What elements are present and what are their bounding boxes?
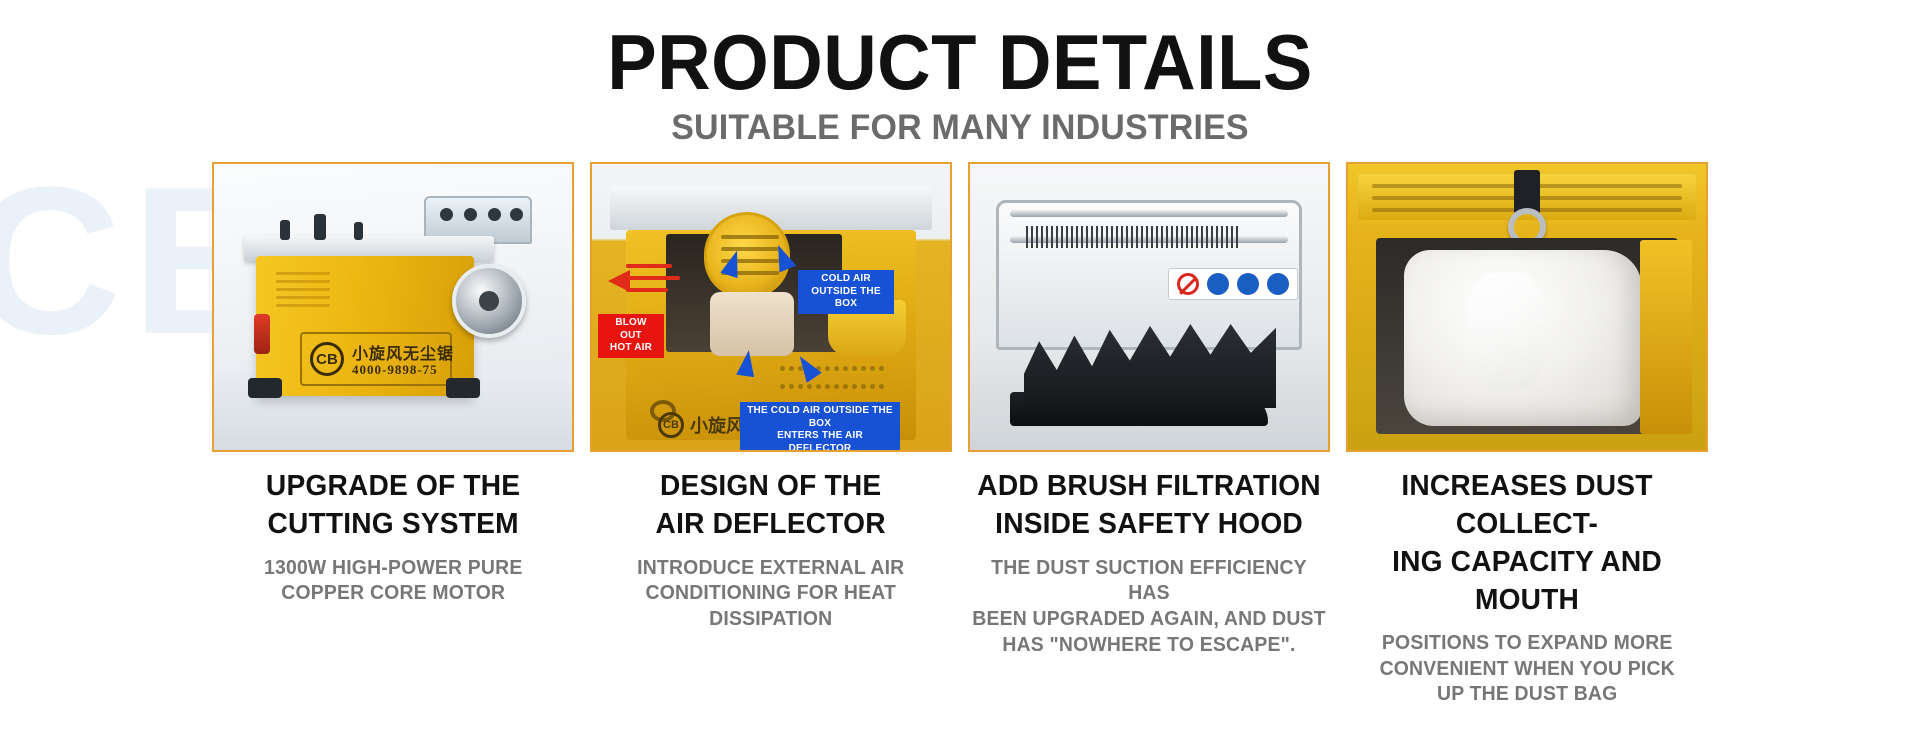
- panel-sub-line-1: 1300W HIGH-POWER PURE: [264, 556, 522, 582]
- panel-title-line-2: CUTTING SYSTEM: [266, 506, 520, 544]
- photo-dust-bag: [1348, 164, 1706, 450]
- panel-sub-line-1: THE DUST SUCTION EFFICIENCY HAS: [971, 556, 1328, 607]
- panel-title-line-2: ING CAPACITY AND MOUTH: [1349, 544, 1706, 619]
- panel-sub-line-2: COPPER CORE MOTOR: [264, 581, 522, 607]
- panel-title-line-2: AIR DEFLECTOR: [656, 506, 886, 544]
- panel-subtitle-cutting-system: 1300W HIGH-POWER PURE COPPER CORE MOTOR: [264, 556, 522, 607]
- cb-logo-icon: CB: [658, 412, 684, 438]
- panel-sub-line-2: CONVENIENT WHEN YOU PICK: [1379, 657, 1674, 683]
- eye-protection-icon: [1207, 273, 1229, 295]
- panel-sub-line-2: CONDITIONING FOR HEAT: [637, 581, 904, 607]
- photo-saw-machine: CB 小旋风无尘锯 4000-9898-75: [214, 164, 572, 450]
- feature-panel-cutting-system: CB 小旋风无尘锯 4000-9898-75 UPGRADE OF THE CU…: [209, 162, 577, 708]
- white-dust-bag: [1404, 250, 1642, 426]
- guard-rail-top: [1010, 210, 1288, 217]
- cold-air-arrow-icon-3: [736, 349, 757, 377]
- cutting-wheel: [452, 264, 526, 338]
- panel-sub-line-3: DISSIPATION: [637, 607, 904, 633]
- ear-protection-icon: [1237, 273, 1259, 295]
- control-knob-2: [314, 214, 326, 240]
- panel-sub-line-3: HAS "NOWHERE TO ESCAPE".: [971, 633, 1328, 659]
- brand-phone-number: 4000-9898-75: [352, 362, 438, 378]
- banner-header: PRODUCT DETAILS SUITABLE FOR MANY INDUST…: [0, 0, 1920, 148]
- panel-subtitle-brush-filtration: THE DUST SUCTION EFFICIENCY HAS BEEN UPG…: [971, 556, 1328, 658]
- product-details-banner: CB PRODUCT DETAILS SUITABLE FOR MANY IND…: [0, 0, 1920, 750]
- panel-title-line-2: INSIDE SAFETY HOOD: [977, 506, 1321, 544]
- feature-panels-row: CB 小旋风无尘锯 4000-9898-75 UPGRADE OF THE CU…: [0, 148, 1920, 708]
- panel-sub-line-1: POSITIONS TO EXPAND MORE: [1379, 631, 1674, 657]
- panel-subtitle-air-deflector: INTRODUCE EXTERNAL AIR CONDITIONING FOR …: [637, 556, 904, 633]
- panel-title-dust-capacity: INCREASES DUST COLLECT- ING CAPACITY AND…: [1349, 468, 1706, 619]
- brush-filtration-strip: [1026, 226, 1238, 248]
- photo-frame-brush-filtration: [968, 162, 1330, 452]
- photo-frame-air-deflector: CB 小旋风无尘锯 BLOW OUT HOT AIR COLD AIR OUTS…: [590, 162, 952, 452]
- photo-air-deflector: CB 小旋风无尘锯 BLOW OUT HOT AIR COLD AIR OUTS…: [592, 164, 950, 450]
- motor-body: [710, 292, 794, 356]
- panel-title-line-1: DESIGN OF THE: [656, 468, 886, 506]
- panel-subtitle-dust-capacity: POSITIONS TO EXPAND MORE CONVENIENT WHEN…: [1379, 631, 1674, 708]
- read-manual-icon: [1267, 273, 1289, 295]
- body-vents: [276, 272, 330, 306]
- panel-sub-line-2: BEEN UPGRADED AGAIN, AND DUST: [971, 607, 1328, 633]
- safety-warning-sticker: [1168, 268, 1298, 300]
- red-lever: [254, 314, 270, 354]
- control-knob-3: [354, 222, 363, 240]
- blow-out-hot-air-label: BLOW OUT HOT AIR: [598, 314, 664, 358]
- machine-foot-right: [446, 378, 480, 398]
- photo-frame-dust-capacity: [1346, 162, 1708, 452]
- hot-air-streak-3: [626, 288, 668, 292]
- panel-sub-line-3: UP THE DUST BAG: [1379, 682, 1674, 708]
- panel-title-line-1: INCREASES DUST COLLECT-: [1349, 468, 1706, 543]
- cold-air-outside-box-label: COLD AIR OUTSIDE THE BOX: [798, 270, 894, 314]
- feature-panel-air-deflector: CB 小旋风无尘锯 BLOW OUT HOT AIR COLD AIR OUTS…: [587, 162, 955, 708]
- feature-panel-dust-capacity: INCREASES DUST COLLECT- ING CAPACITY AND…: [1343, 162, 1711, 708]
- feature-panel-brush-filtration: ADD BRUSH FILTRATION INSIDE SAFETY HOOD …: [965, 162, 1333, 708]
- dust-chute: [1640, 240, 1692, 434]
- panel-title-air-deflector: DESIGN OF THE AIR DEFLECTOR: [656, 468, 886, 543]
- control-knob-1: [280, 220, 290, 240]
- photo-frame-cutting-system: CB 小旋风无尘锯 4000-9898-75: [212, 162, 574, 452]
- panel-title-brush-filtration: ADD BRUSH FILTRATION INSIDE SAFETY HOOD: [977, 468, 1321, 543]
- hot-air-streak-1: [626, 264, 672, 268]
- brand-chinese-text: 小旋风无尘锯: [352, 340, 454, 364]
- panel-title-line-1: UPGRADE OF THE: [266, 468, 520, 506]
- panel-title-line-1: ADD BRUSH FILTRATION: [977, 468, 1321, 506]
- page-title: PRODUCT DETAILS: [48, 24, 1872, 100]
- page-subtitle: SUITABLE FOR MANY INDUSTRIES: [29, 108, 1891, 148]
- no-touch-icon: [1177, 273, 1199, 295]
- cold-air-enters-deflector-label: THE COLD AIR OUTSIDE THE BOX ENTERS THE …: [740, 402, 900, 452]
- machine-foot-left: [248, 378, 282, 398]
- photo-safety-hood: [970, 164, 1328, 450]
- panel-sub-line-1: INTRODUCE EXTERNAL AIR: [637, 556, 904, 582]
- panel-title-cutting-system: UPGRADE OF THE CUTTING SYSTEM: [266, 468, 520, 543]
- hot-air-streak-2: [626, 276, 680, 280]
